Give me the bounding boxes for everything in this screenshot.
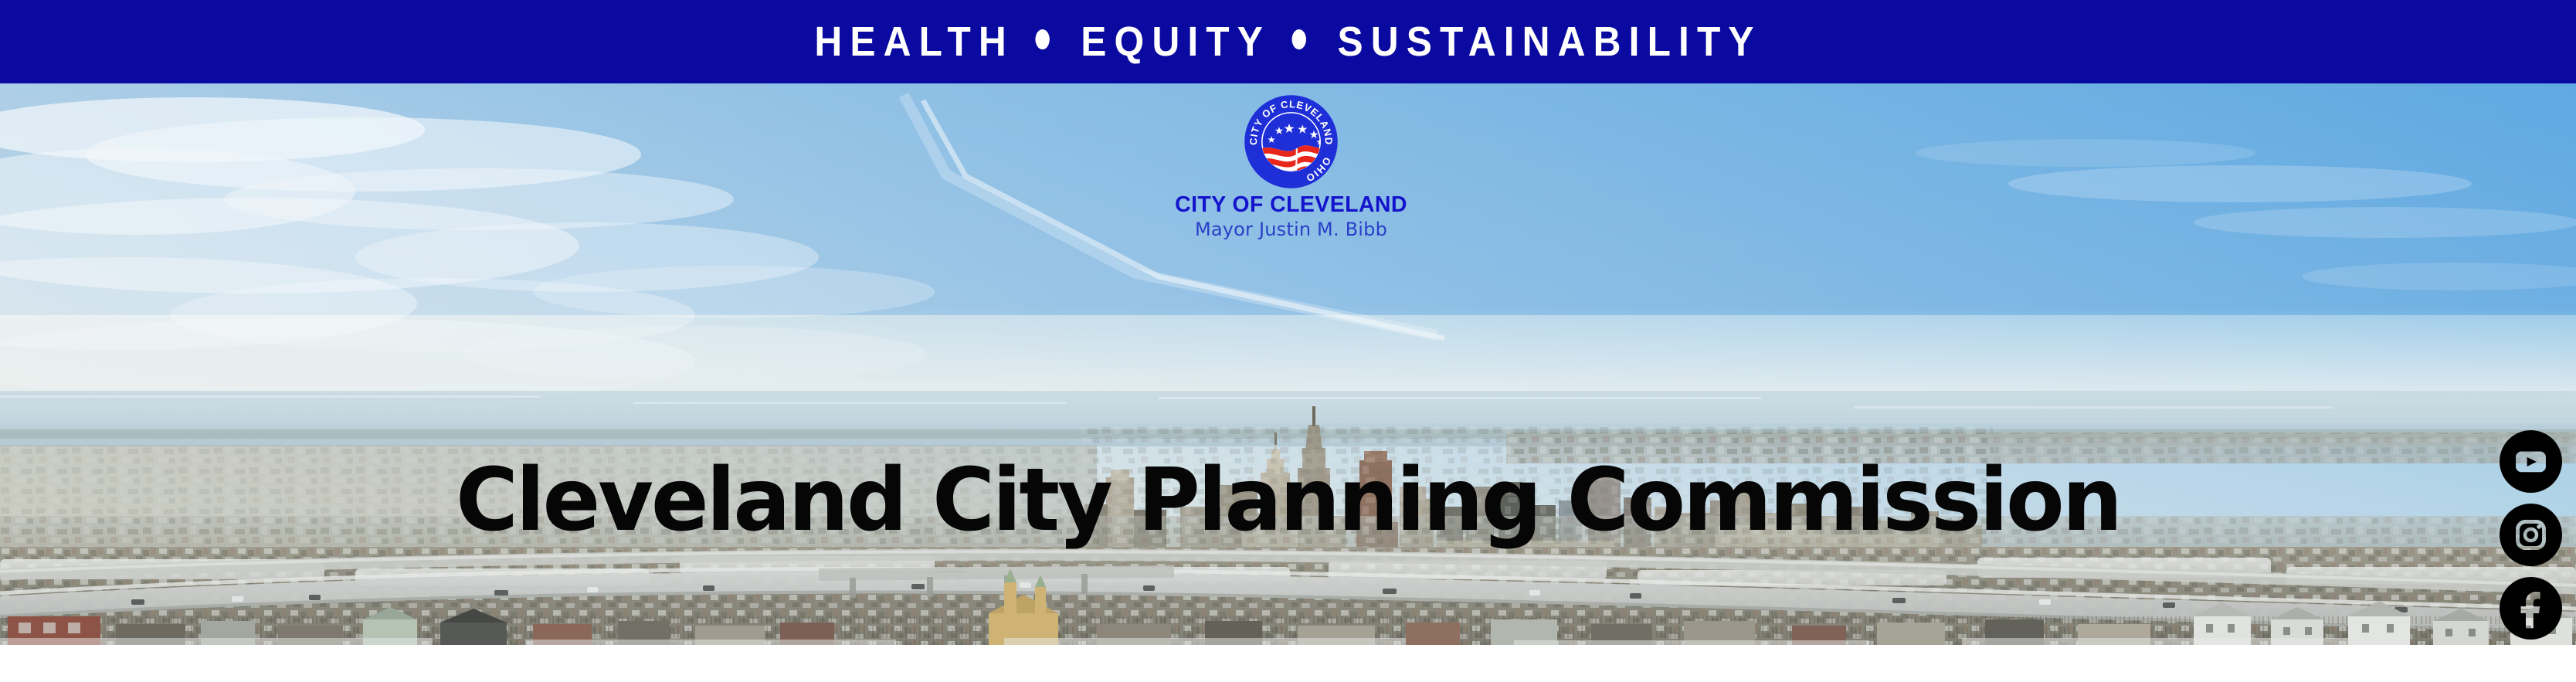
tagline-bullet-1 — [1035, 29, 1049, 49]
tagline-banner: HEALTH EQUITY SUSTAINABILITY — [0, 0, 2576, 83]
bottom-white-strip — [0, 645, 2576, 682]
city-of-cleveland-seal-icon: CITY OF CLEVELAND OHIO — [1244, 94, 1339, 189]
social-link-youtube[interactable] — [2500, 430, 2562, 493]
tagline-word-sustainability: SUSTAINABILITY — [1337, 21, 1761, 63]
facebook-icon[interactable] — [2500, 577, 2562, 640]
youtube-icon[interactable] — [2500, 430, 2562, 493]
tagline-word-health: HEALTH — [814, 21, 1014, 63]
instagram-icon[interactable] — [2500, 504, 2562, 566]
page-root: HEALTH EQUITY SUSTAINABILITY — [0, 0, 2576, 682]
social-link-instagram[interactable] — [2500, 504, 2562, 566]
city-of-cleveland-lockup: CITY OF CLEVELAND OHIO CITY OF CLEVELAND… — [1150, 94, 1432, 326]
seal-wrap: CITY OF CLEVELAND OHIO — [1150, 94, 1432, 189]
seal-subtitle: Mayor Justin M. Bibb — [1150, 219, 1432, 239]
page-title: Cleveland City Planning Commission — [19, 457, 2557, 544]
seal-title: CITY OF CLEVELAND — [1150, 194, 1432, 217]
tagline-word-equity: EQUITY — [1081, 21, 1271, 63]
social-link-facebook[interactable] — [2500, 577, 2562, 640]
tagline-bullet-2 — [1292, 29, 1306, 49]
social-links — [2500, 430, 2564, 643]
tagline-text: HEALTH EQUITY SUSTAINABILITY — [814, 21, 1761, 63]
